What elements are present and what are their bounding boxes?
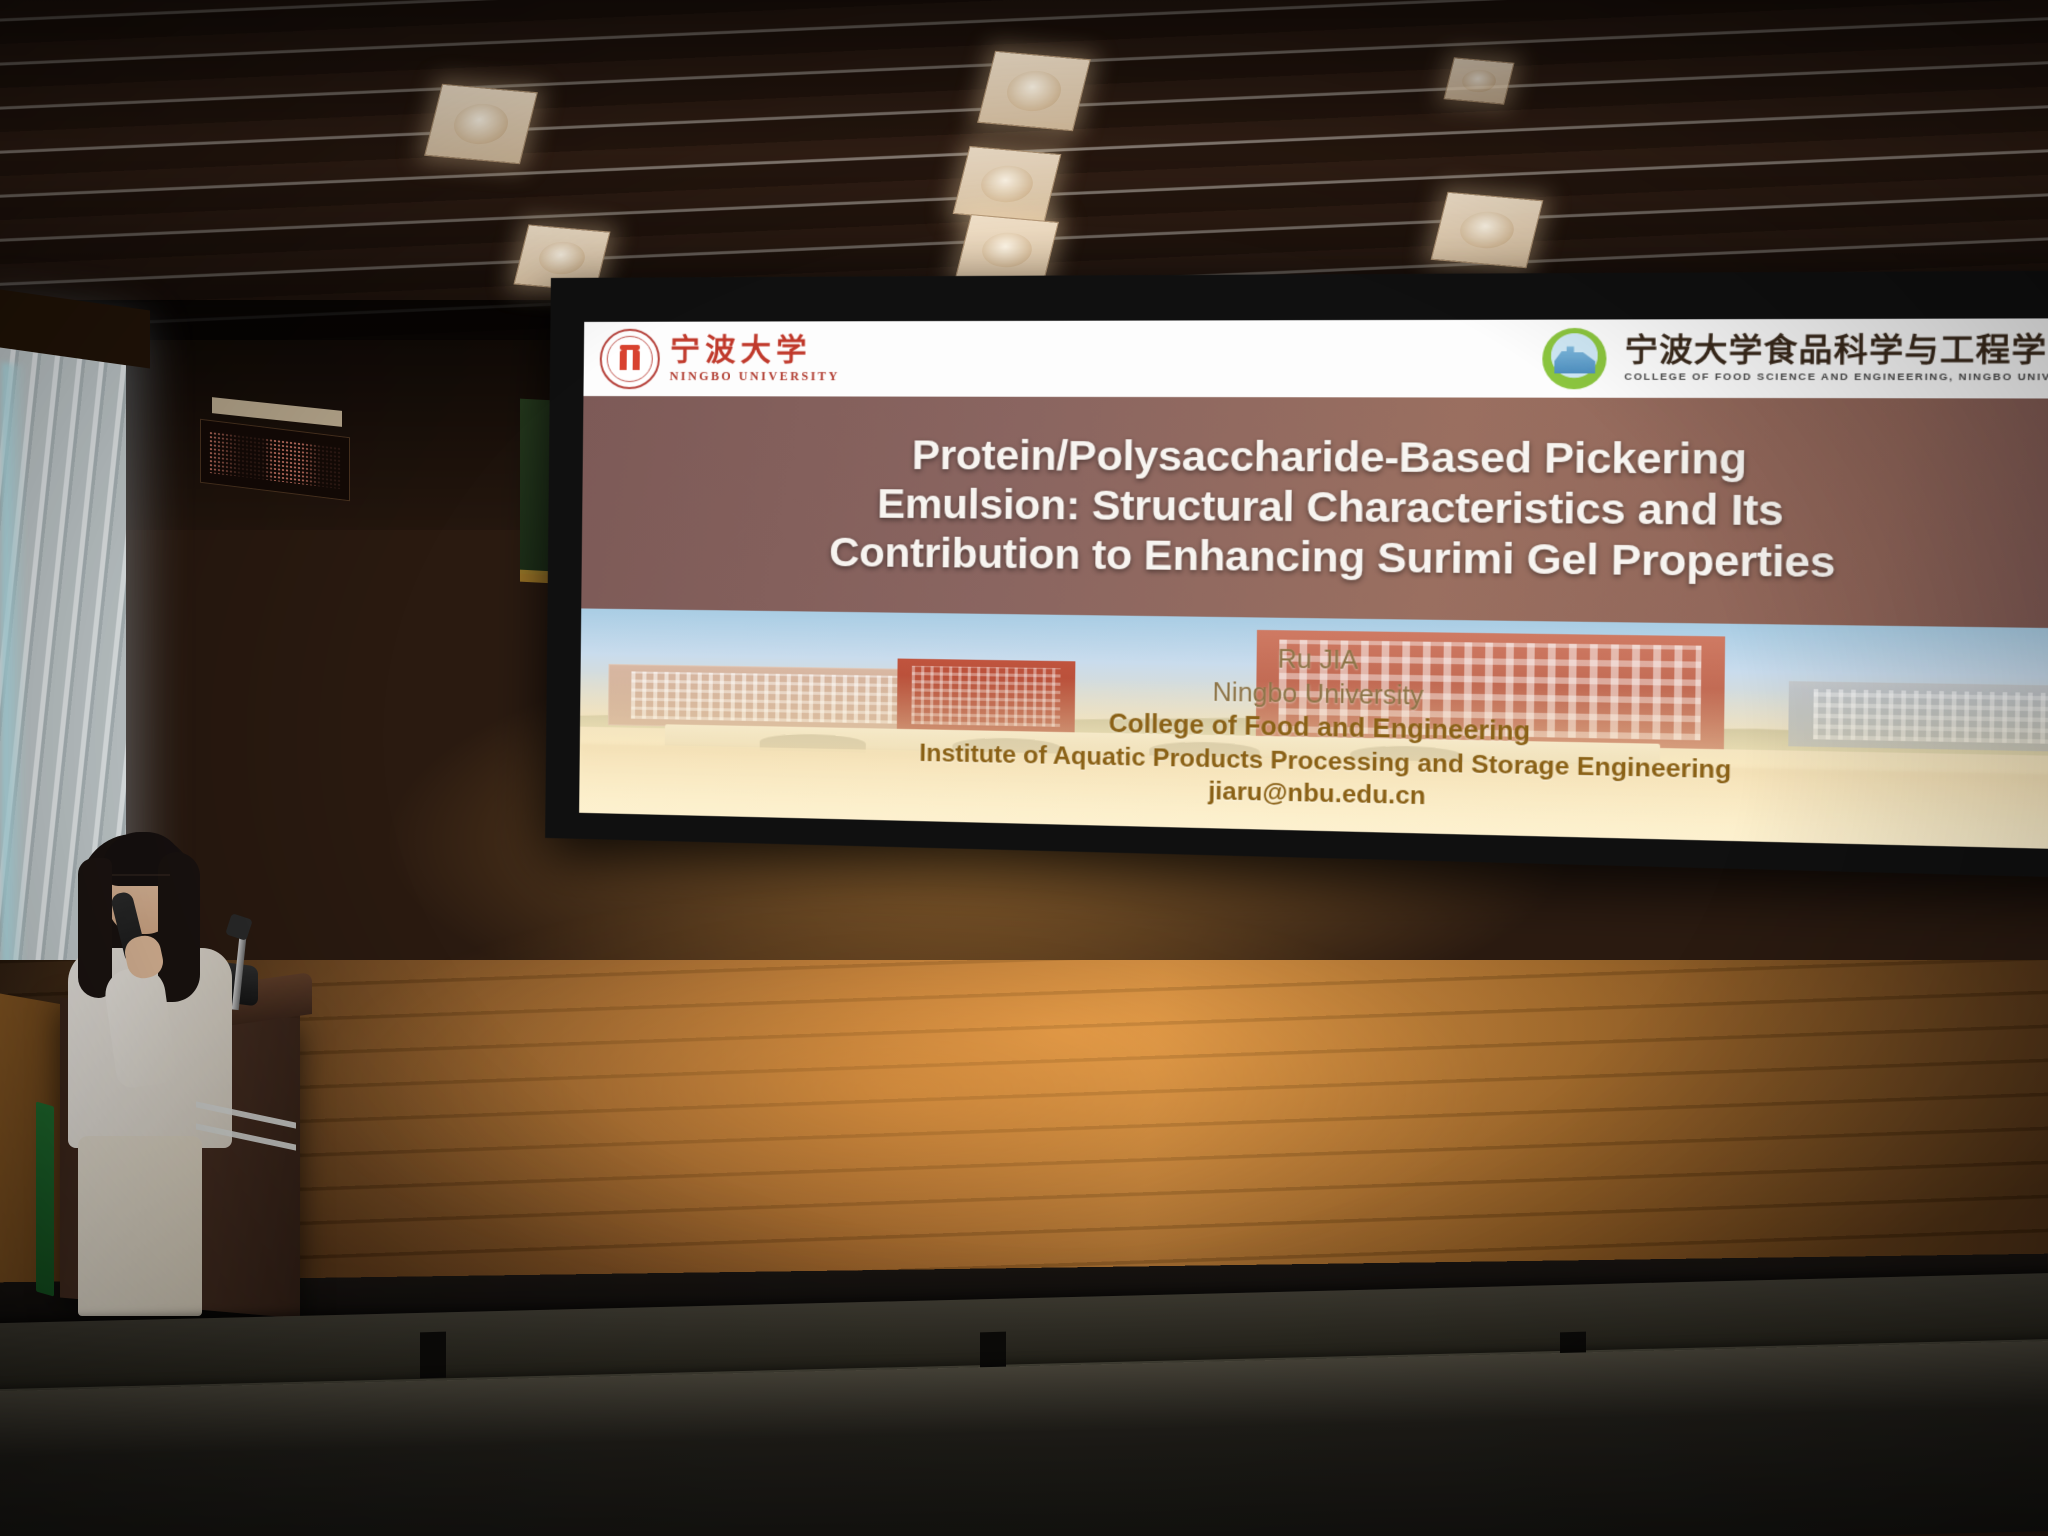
presenter-hair-side: [78, 858, 112, 998]
seat-divider: [420, 1332, 446, 1379]
author-name: Ru JIA: [1277, 645, 1358, 677]
presentation-slide: 宁波大学 NINGBO UNIVERSITY 宁波大学食品科学与工程学院 COL…: [579, 318, 2048, 850]
slide-title-line-2: Emulsion: Structural Characteristics and…: [877, 481, 1784, 536]
ningbo-university-seal-icon: [599, 329, 660, 389]
slide-title-band: Protein/Polysaccharide-Based Pickering E…: [581, 396, 2048, 629]
author-email: jiaru@nbu.edu.cn: [1208, 778, 1426, 812]
slide-campus-photo: Ru JIA Ningbo University College of Food…: [579, 608, 2048, 850]
recessed-downlight-icon: [953, 146, 1062, 222]
presenter-glasses: [112, 874, 170, 888]
recessed-downlight-icon: [977, 51, 1091, 132]
cfse-chinese-name: 宁波大学食品科学与工程学院: [1625, 334, 2048, 367]
ningbo-university-wordmark: 宁波大学 NINGBO UNIVERSITY: [670, 336, 841, 383]
presenter-trousers: [78, 1136, 202, 1316]
cfse-english-name: COLLEGE OF FOOD SCIENCE AND ENGINEERING,…: [1624, 372, 2048, 382]
projection-screen: 宁波大学 NINGBO UNIVERSITY 宁波大学食品科学与工程学院 COL…: [545, 270, 2048, 879]
slide-author-block: Ru JIA Ningbo University College of Food…: [579, 608, 2048, 850]
college-wordmark: 宁波大学食品科学与工程学院 COLLEGE OF FOOD SCIENCE AN…: [1624, 334, 2048, 382]
slide-title-line-3: Contribution to Enhancing Surimi Gel Pro…: [829, 529, 1836, 587]
seal-gate-bar: [620, 345, 640, 350]
presenter: [62, 818, 232, 1298]
seal-gate-glyph: [620, 348, 640, 370]
auditorium-photo: F 宁波大学 NINGBO UNIVERSITY: [0, 0, 2048, 1536]
recessed-downlight-icon: [1431, 192, 1544, 269]
daylight-highlight: [2, 363, 26, 1006]
recessed-downlight-icon: [1443, 57, 1514, 104]
slide-title-line-1: Protein/Polysaccharide-Based Pickering: [911, 432, 1746, 484]
exit-sign: [36, 1101, 54, 1296]
author-institute: Institute of Aquatic Products Processing…: [919, 739, 1731, 785]
audience-seating-foreground: [0, 1292, 2048, 1536]
author-university: Ningbo University: [1212, 678, 1423, 712]
author-college: College of Food and Engineering: [1108, 710, 1530, 749]
recessed-downlight-icon: [424, 84, 538, 165]
nbu-chinese-name: 宁波大学: [670, 336, 840, 366]
nbu-english-name: NINGBO UNIVERSITY: [670, 370, 840, 382]
emblem-building-glyph: [1554, 346, 1595, 373]
slide-logo-band: 宁波大学 NINGBO UNIVERSITY 宁波大学食品科学与工程学院 COL…: [583, 318, 2048, 398]
college-food-science-emblem-icon: [1542, 328, 1607, 389]
